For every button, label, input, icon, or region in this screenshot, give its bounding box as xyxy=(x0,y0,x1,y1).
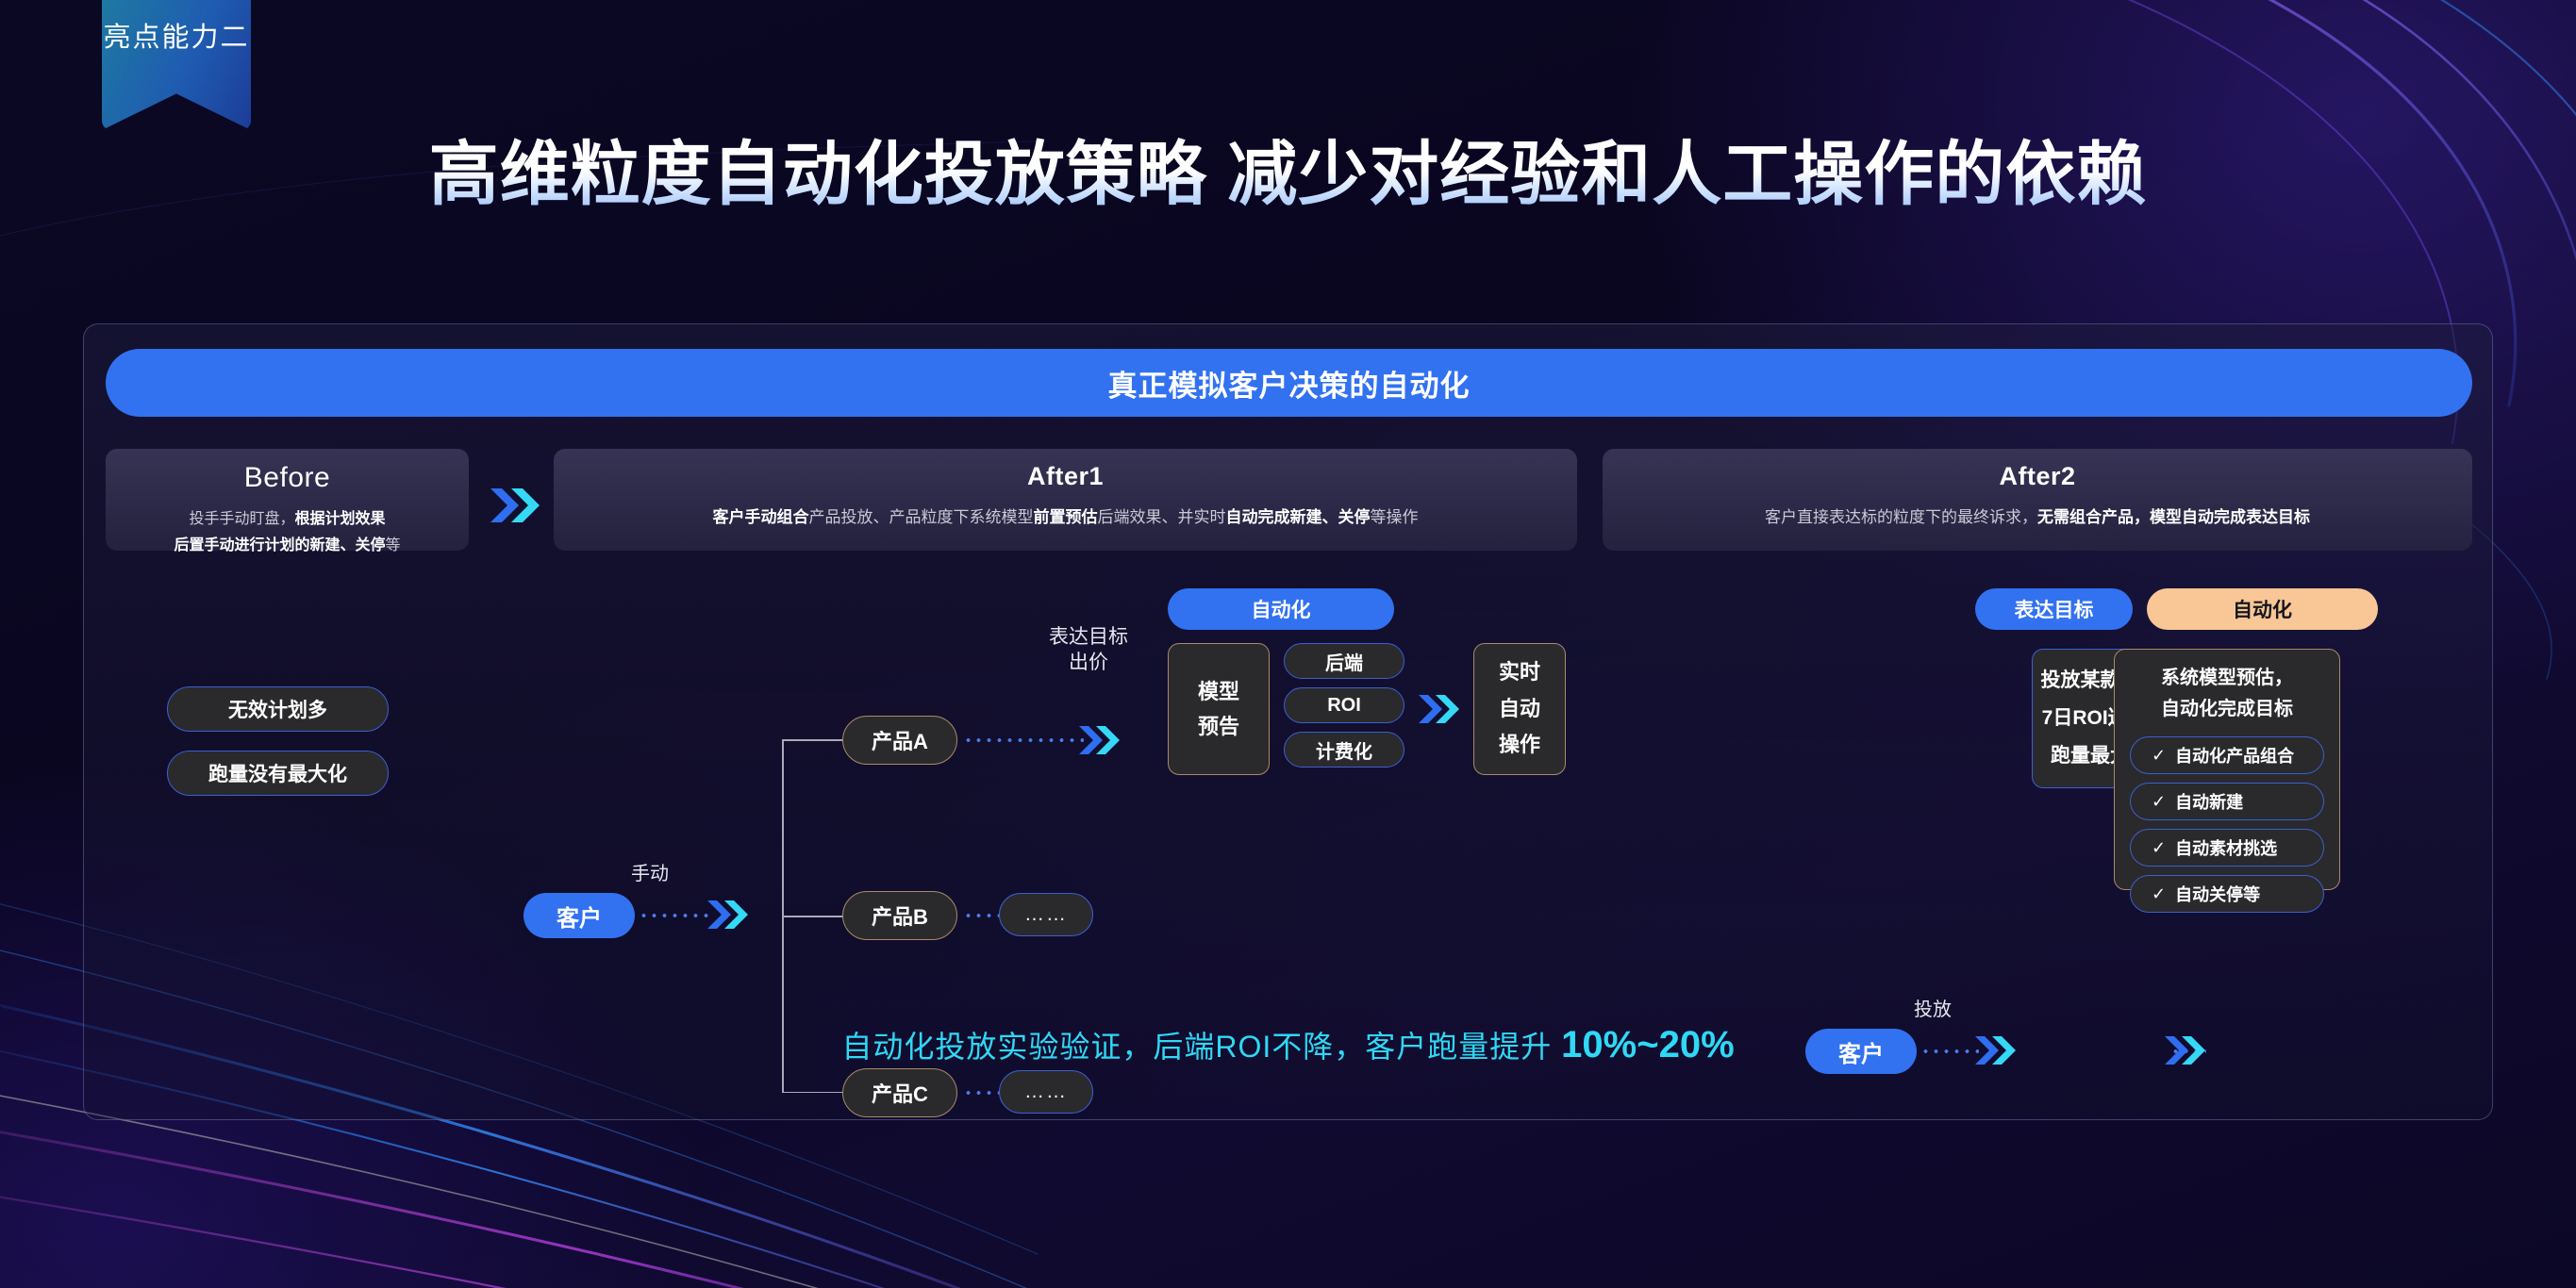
check-icon: ✓ xyxy=(2152,838,2166,858)
highlight-badge: 亮点能力二 xyxy=(102,0,251,130)
before-pill-1[interactable]: 跑量没有最大化 xyxy=(167,751,389,796)
after1-customer-node[interactable]: 客户 xyxy=(524,893,635,938)
after2-auto-tag: 自动化 xyxy=(2147,588,2378,630)
after1-bid-label: 表达目标 出价 xyxy=(1004,624,1173,676)
summary-text: 自动化投放实验验证，后端ROI不降，客户跑量提升 10%~20% xyxy=(0,1023,2576,1066)
after1-model-box: 模型 预告 xyxy=(1168,643,1270,775)
panel-after1-title: After1 xyxy=(554,462,1577,491)
panel-after2: After2 客户直接表达标的粒度下的最终诉求，无需组合产品，模型自动完成表达目… xyxy=(1603,449,2472,551)
after2-result-title: 系统模型预估， 自动化完成目标 xyxy=(2130,663,2324,725)
panel-after1: After1 客户手动组合产品投放、产品粒度下系统模型前置预估后端效果、并实时自… xyxy=(554,449,1577,551)
after1-product-b-connector xyxy=(963,914,1001,917)
after1-auto-tag: 自动化 xyxy=(1168,588,1394,630)
after2-check-label-2: 自动素材挑选 xyxy=(2175,835,2277,860)
after1-product-c-connector xyxy=(963,1091,1001,1095)
check-icon: ✓ xyxy=(2152,792,2166,812)
content-card: 真正模拟客户决策的自动化 Before 投手手动盯盘，根据计划效果后置手动进行计… xyxy=(83,323,2493,1120)
after1-ellipsis-0: …… xyxy=(999,893,1093,936)
after1-manual-label: 手动 xyxy=(612,862,688,886)
after1-mid-pill-0: 后端 xyxy=(1284,643,1404,679)
after1-product-2[interactable]: 产品C xyxy=(842,1068,957,1117)
after1-customer-connector xyxy=(639,914,712,917)
panel-after2-title: After2 xyxy=(1603,462,2472,491)
after2-check-2[interactable]: ✓ 自动素材挑选 xyxy=(2130,829,2324,867)
after1-mid-pill-2: 计费化 xyxy=(1284,732,1404,768)
panel-after1-desc: 客户手动组合产品投放、产品粒度下系统模型前置预估后端效果、并实时自动完成新建、关… xyxy=(554,504,1577,532)
after1-product-a-chevron-icon xyxy=(1078,723,1120,762)
badge-label: 亮点能力二 xyxy=(102,15,251,55)
check-icon: ✓ xyxy=(2152,884,2166,904)
after2-deliver-label: 投放 xyxy=(1895,998,1970,1022)
after1-result-chevron-icon xyxy=(1418,692,1459,731)
section-banner: 真正模拟客户决策的自动化 xyxy=(106,349,2472,417)
after1-product-1[interactable]: 产品B xyxy=(842,891,957,940)
chevron-before-after-icon xyxy=(489,485,540,531)
after1-product-0[interactable]: 产品A xyxy=(842,716,957,765)
slide-root: 亮点能力二 高维粒度自动化投放策略 减少对经验和人工操作的依赖 真正模拟客户决策… xyxy=(0,0,2576,1288)
page-title: 高维粒度自动化投放策略 减少对经验和人工操作的依赖 xyxy=(0,118,2576,219)
summary-prefix: 自动化投放实验验证，后端ROI不降，客户跑量提升 xyxy=(841,1030,1561,1064)
panel-before-title: Before xyxy=(106,462,469,494)
before-pill-0[interactable]: 无效计划多 xyxy=(167,686,389,732)
after2-check-3[interactable]: ✓ 自动关停等 xyxy=(2130,875,2324,913)
after1-mid-pill-1: ROI xyxy=(1284,687,1404,723)
after2-check-0[interactable]: ✓ 自动化产品组合 xyxy=(2130,736,2324,774)
after2-goal-tag: 表达目标 xyxy=(1975,588,2133,630)
after2-check-list: ✓ 自动化产品组合 ✓ 自动新建 ✓ 自动素材挑选 ✓ 自动关停等 xyxy=(2130,736,2324,913)
after2-check-label-3: 自动关停等 xyxy=(2175,882,2260,906)
after1-result-box: 实时 自动 操作 xyxy=(1473,643,1566,775)
after2-check-1[interactable]: ✓ 自动新建 xyxy=(2130,783,2324,820)
after1-ellipsis-1: …… xyxy=(999,1070,1093,1114)
after2-check-label-0: 自动化产品组合 xyxy=(2175,743,2294,768)
after1-manual-chevron-icon xyxy=(706,898,748,936)
panel-before: Before 投手手动盯盘，根据计划效果后置手动进行计划的新建、关停等 xyxy=(106,449,469,551)
after2-check-label-1: 自动新建 xyxy=(2175,789,2243,814)
check-icon: ✓ xyxy=(2152,746,2166,766)
panel-after2-desc: 客户直接表达标的粒度下的最终诉求，无需组合产品，模型自动完成表达目标 xyxy=(1603,504,2472,532)
after2-result-container: 系统模型预估， 自动化完成目标 ✓ 自动化产品组合 ✓ 自动新建 ✓ 自动素材挑… xyxy=(2114,649,2340,890)
summary-highlight: 10%~20% xyxy=(1561,1024,1734,1065)
after1-product-a-connector xyxy=(963,738,1084,742)
panel-before-desc: 投手手动盯盘，根据计划效果后置手动进行计划的新建、关停等 xyxy=(106,506,469,559)
